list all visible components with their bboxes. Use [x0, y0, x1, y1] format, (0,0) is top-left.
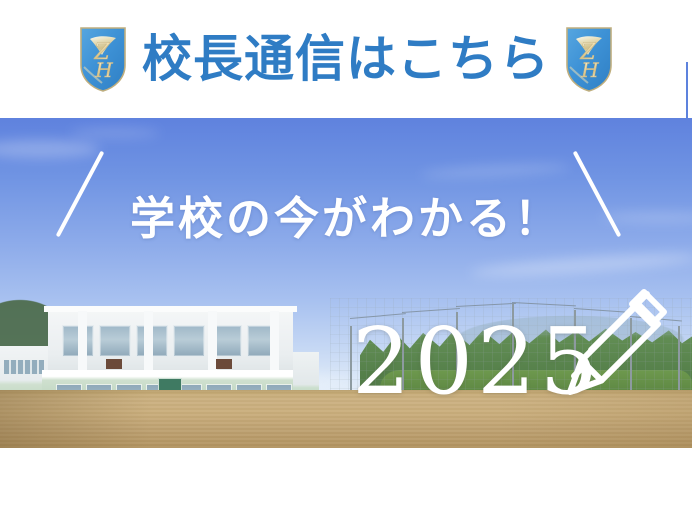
- hero-photo[interactable]: 学校の今がわかる！ 2025: [0, 118, 692, 448]
- annex-windows: [4, 360, 44, 374]
- cloud-wisp: [70, 128, 160, 138]
- upper-doorway: [106, 359, 122, 369]
- building-pillar: [144, 311, 153, 373]
- hero-tagline: 学校の今がわかる！: [0, 196, 692, 241]
- overhead-wire: [456, 303, 516, 307]
- banner-page: Z H 校長通信はこちら Z H: [0, 0, 692, 528]
- right-edge-rule: [686, 62, 688, 120]
- pencil-icon: [540, 286, 670, 404]
- header-title: 校長通信はこちら: [142, 34, 550, 84]
- school-crest-icon-right: Z H: [564, 25, 614, 93]
- upper-window-row: [62, 325, 279, 355]
- window-pane: [173, 325, 205, 357]
- school-crest-icon-left: Z H: [78, 25, 128, 93]
- building-upper-floor: [48, 308, 293, 373]
- window-pane: [99, 325, 131, 357]
- header-banner[interactable]: Z H 校長通信はこちら Z H: [0, 0, 692, 118]
- building-pillar: [270, 311, 279, 373]
- upper-doorway: [216, 359, 232, 369]
- footer-whitespace: [0, 448, 692, 528]
- building-pillar: [78, 311, 87, 373]
